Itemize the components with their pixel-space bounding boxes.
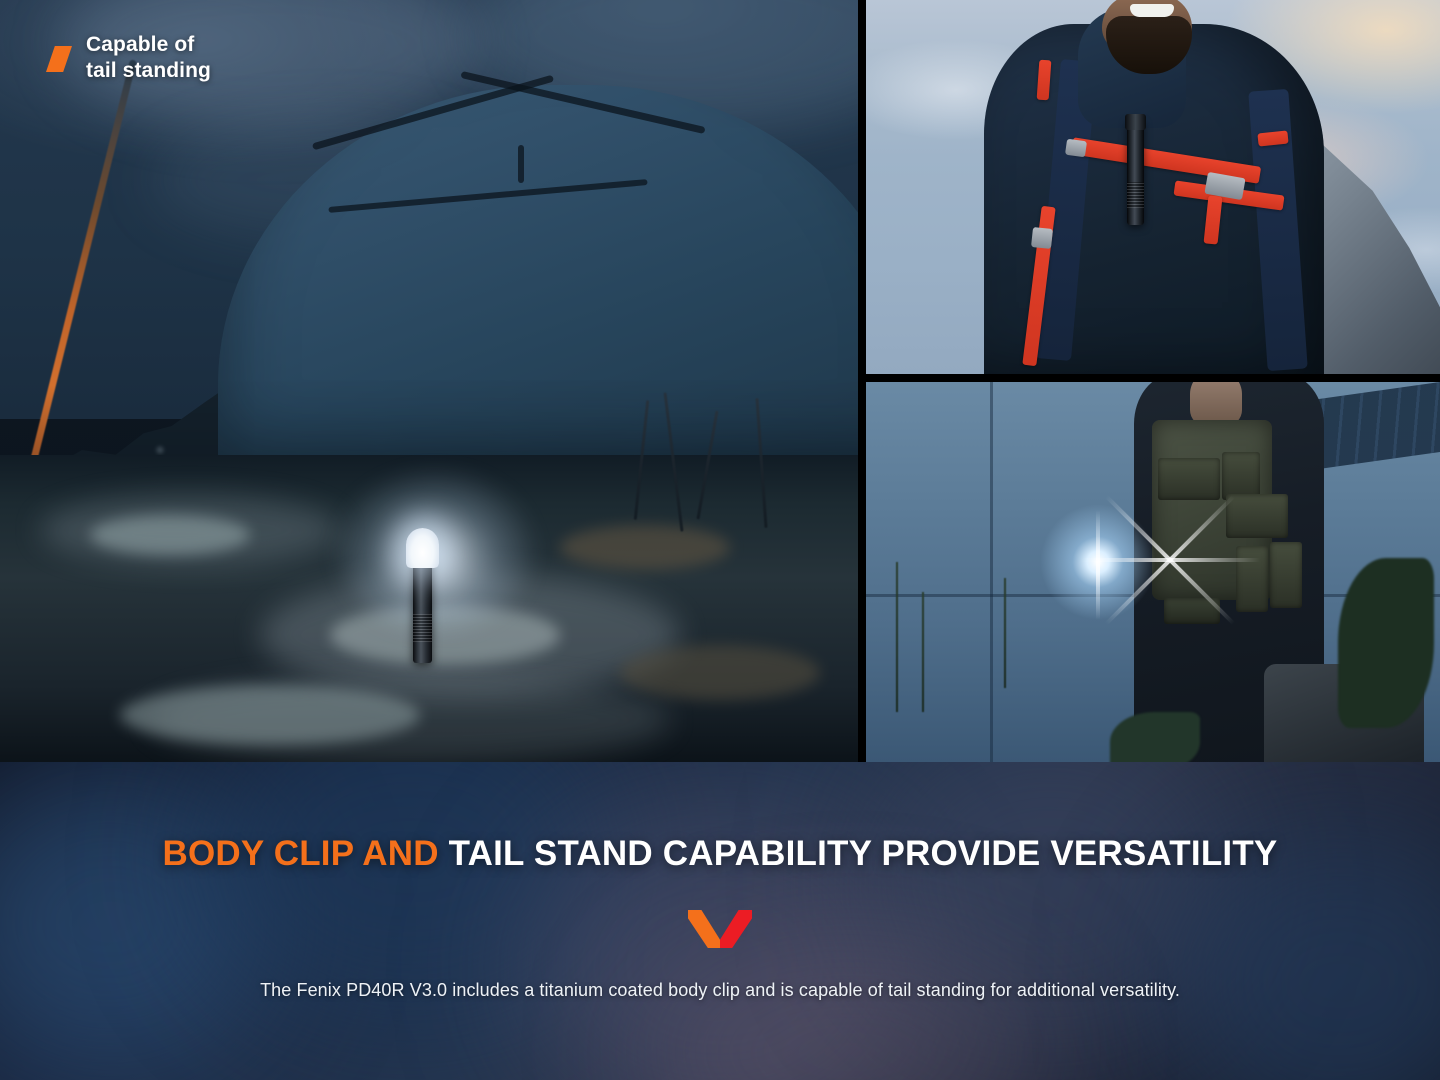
tent-rib [328,179,647,213]
lichen-patch [90,515,250,555]
vest-pouch [1226,494,1288,538]
lichen-patch [120,685,420,745]
panel-tail-standing: Capable of tail standing [0,0,858,762]
strap-buckle [1065,139,1087,158]
flashlight-body [1127,120,1144,225]
chevron-right-half [720,910,752,948]
strap-buckle [1031,227,1053,249]
tent-rib [518,145,524,183]
vest-pouch [1236,546,1268,612]
lichen-patch [620,645,820,700]
vest-pouch [1222,452,1260,500]
chevron-down-icon [688,910,752,948]
flashlight-head [1125,114,1146,130]
vine [922,592,924,712]
foliage [1338,558,1434,728]
panel-attach-backpack: Attach to backpack [866,0,1440,374]
tent-shape [218,85,858,505]
hiker-smile [1130,4,1174,17]
panel-on-duty: On duty [866,382,1440,762]
foliage [1110,712,1200,762]
flashlight-knurling [413,614,432,642]
caption-label: Capable of tail standing [86,32,211,83]
bottom-banner: BODY CLIP AND TAIL STAND CAPABILITY PROV… [0,762,1440,1080]
chevron-left-half [688,910,720,948]
banner-headline: BODY CLIP AND TAIL STAND CAPABILITY PROV… [0,834,1440,874]
product-feature-page: Capable of tail standing [0,0,1440,1080]
wall-seam [990,382,993,762]
grid-divider-horizontal [858,374,1440,382]
headline-main: TAIL STAND CAPABILITY PROVIDE VERSATILIT… [449,834,1278,873]
slash-icon [46,46,72,72]
banner-body-text: The Fenix PD40R V3.0 includes a titanium… [0,980,1440,1001]
vest-pouch [1158,458,1220,500]
flashlight-body [413,558,432,663]
caption-tail-standing: Capable of tail standing [46,32,211,83]
lichen-patch [560,525,730,570]
vest-pouch [1270,542,1302,608]
headline-accent: BODY CLIP AND [163,834,439,873]
vine [896,562,898,712]
vine [1004,578,1006,688]
image-grid: Capable of tail standing [0,0,1440,762]
beam-ray [1096,510,1100,620]
flashlight-knurling [1127,182,1144,208]
flashlight-diffuser [406,528,439,568]
